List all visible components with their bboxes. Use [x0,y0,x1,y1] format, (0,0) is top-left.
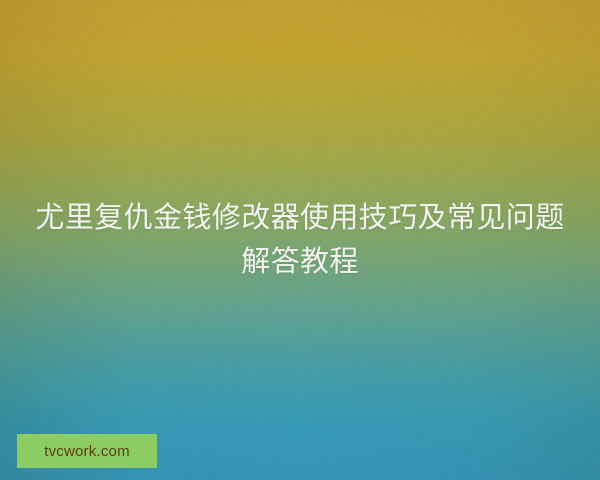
cover-card: 尤里复仇金钱修改器使用技巧及常见问题解答教程 tvcwork.com [0,0,600,480]
watermark-label: tvcwork.com [44,444,130,459]
watermark-badge: tvcwork.com [17,434,157,468]
page-title-container: 尤里复仇金钱修改器使用技巧及常见问题解答教程 [0,196,600,284]
page-title: 尤里复仇金钱修改器使用技巧及常见问题解答教程 [24,196,576,284]
